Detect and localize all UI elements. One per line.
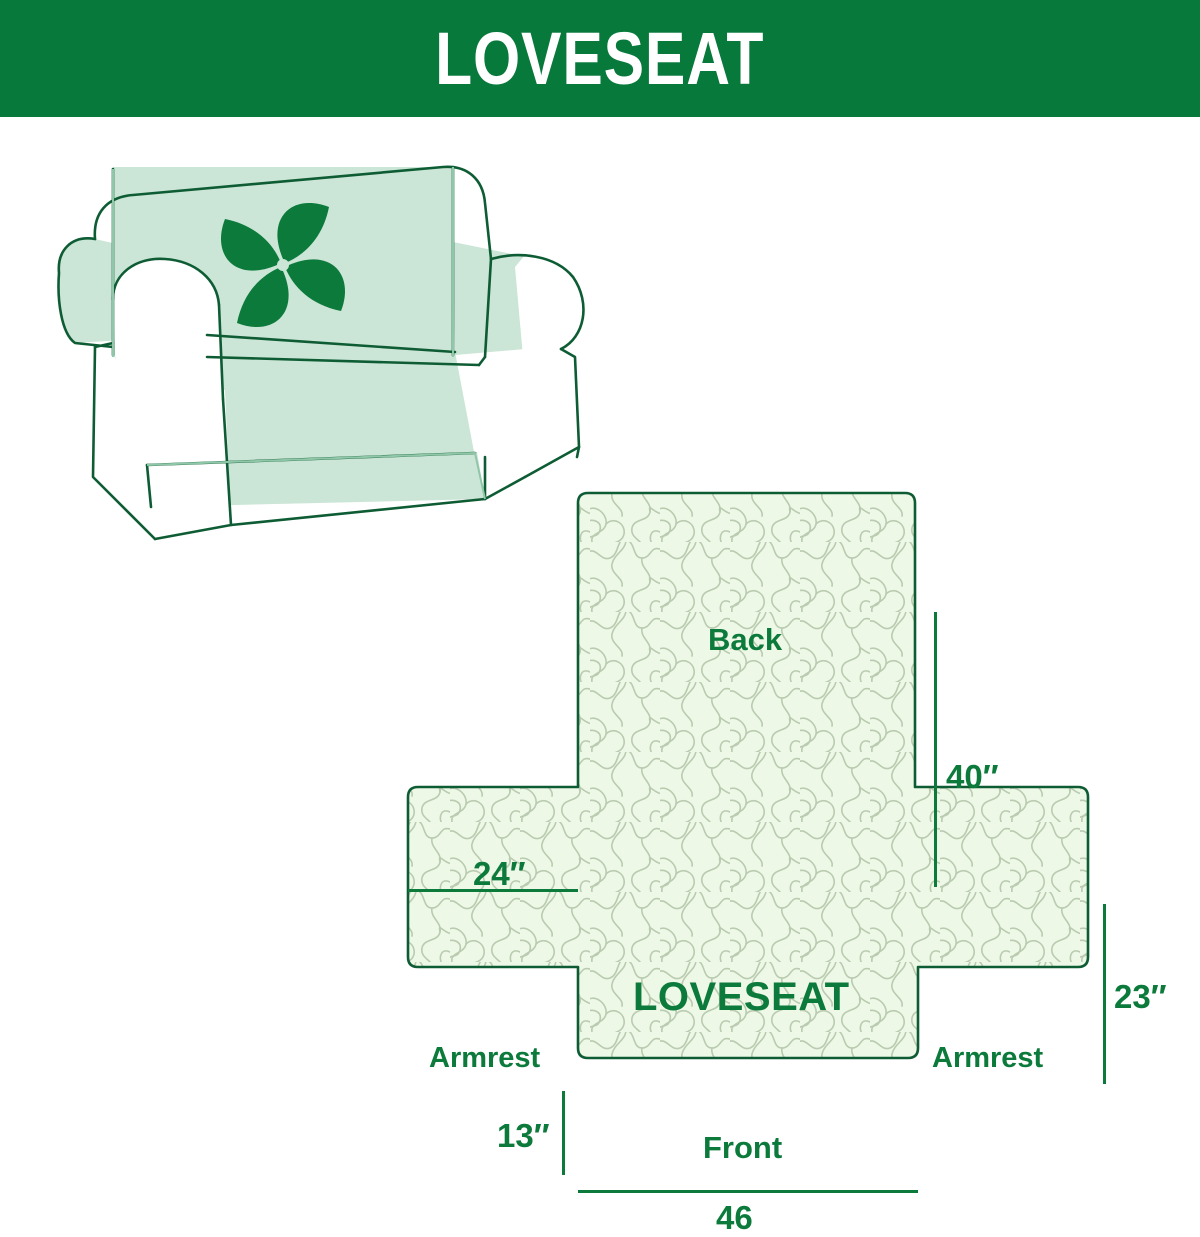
panel-label-armrest-left: Armrest: [429, 1042, 540, 1075]
dimension-label-front-drop: 13″: [497, 1117, 550, 1155]
page-title: LOVESEAT: [435, 22, 764, 96]
panel-label-center: LOVESEAT: [633, 975, 850, 1020]
dimension-line-back-height: [934, 612, 937, 887]
dimension-label-front-width: 46: [716, 1199, 753, 1237]
dimension-label-back-height: 40″: [946, 758, 999, 796]
dimension-label-seat-depth: 23″: [1114, 978, 1167, 1016]
panel-label-front: Front: [703, 1130, 782, 1166]
panel-label-armrest-right: Armrest: [932, 1042, 1043, 1075]
dimension-label-arm-width: 24″: [473, 855, 526, 893]
content-area: 40″ 23″ 24″ 13″ 46 Back Front Armrest Ar…: [0, 117, 1200, 1200]
dimension-line-seat-depth: [1103, 904, 1106, 1084]
dimension-line-front-width: [578, 1190, 918, 1193]
header-band: LOVESEAT: [0, 0, 1200, 117]
panel-label-back: Back: [708, 622, 782, 658]
dimension-line-front-drop: [562, 1091, 565, 1175]
